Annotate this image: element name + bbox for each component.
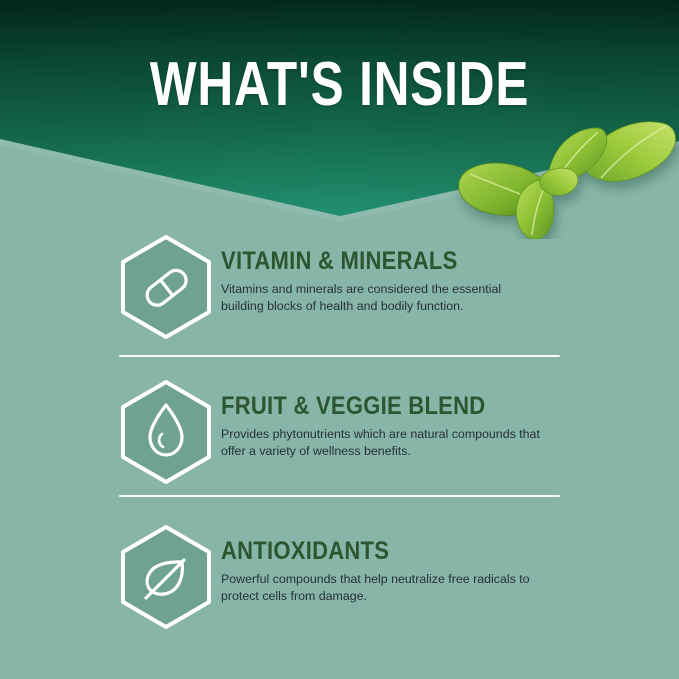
feature-heading: VITAMIN & MINERALS: [221, 248, 511, 275]
capsule-pill-icon: [118, 234, 214, 340]
feature-row-fruit-veggie-blend: FRUIT & VEGGIE BLEND Provides phytonutri…: [0, 379, 679, 499]
feature-row-antioxidants: ANTIOXIDANTS Powerful compounds that hel…: [0, 524, 679, 644]
basil-leaves-icon: [452, 104, 679, 239]
feature-text-vitamin-minerals: VITAMIN & MINERALS Vitamins and minerals…: [221, 248, 551, 314]
divider-2: [119, 495, 560, 497]
feature-body: Provides phytonutrients which are natura…: [221, 426, 546, 459]
whats-inside-infographic: WHAT'S INSIDE: [0, 0, 679, 679]
divider-1: [119, 355, 560, 357]
feature-heading: FRUIT & VEGGIE BLEND: [221, 393, 511, 420]
feature-body: Vitamins and minerals are considered the…: [221, 281, 546, 314]
feature-row-vitamin-minerals: VITAMIN & MINERALS Vitamins and minerals…: [0, 234, 679, 354]
feature-text-fruit-veggie-blend: FRUIT & VEGGIE BLEND Provides phytonutri…: [221, 393, 551, 459]
leaf-icon: [118, 524, 214, 630]
feature-heading: ANTIOXIDANTS: [221, 538, 511, 565]
water-droplet-icon: [118, 379, 214, 485]
header-banner: WHAT'S INSIDE: [0, 0, 679, 230]
feature-text-antioxidants: ANTIOXIDANTS Powerful compounds that hel…: [221, 538, 551, 604]
feature-body: Powerful compounds that help neutralize …: [221, 571, 546, 604]
